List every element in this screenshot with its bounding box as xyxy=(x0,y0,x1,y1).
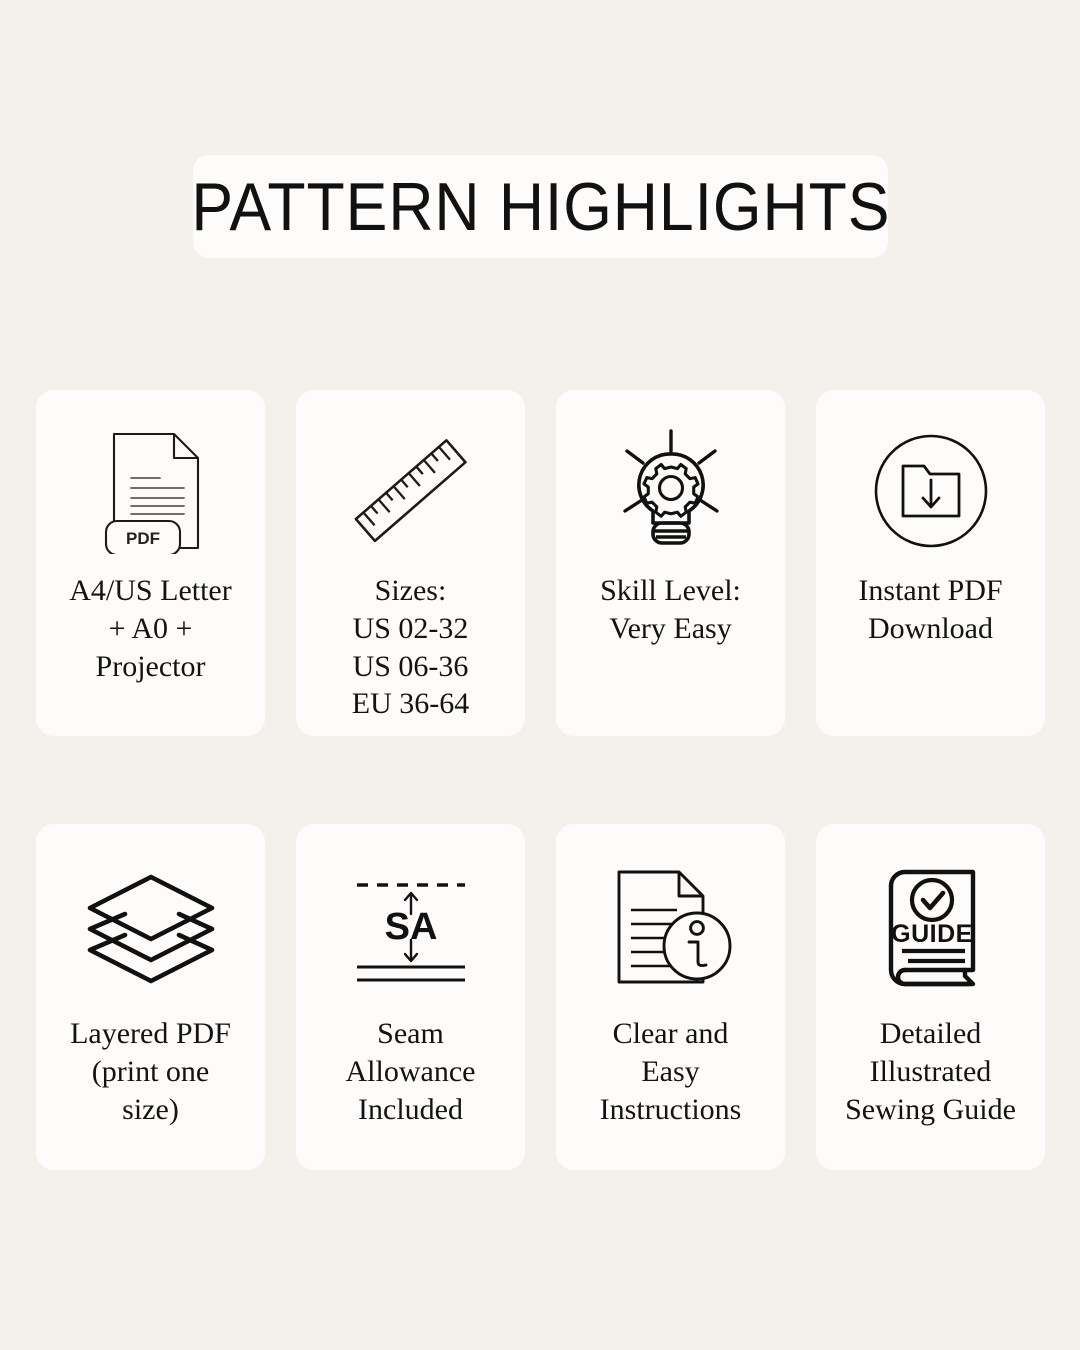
highlight-card-layered-pdf[interactable]: Layered PDF (print one size) xyxy=(36,824,265,1170)
highlight-card-sizes[interactable]: Sizes: US 02-32 US 06-36 EU 36-64 xyxy=(296,390,525,736)
highlight-card-paper-sizes[interactable]: PDF A4/US Letter + A0 + Projector xyxy=(36,390,265,736)
highlight-card-label: Skill Level: Very Easy xyxy=(556,572,785,648)
ruler-icon xyxy=(296,416,525,566)
folder-download-circle-icon xyxy=(816,416,1045,566)
highlight-card-sewing-guide[interactable]: GUIDE Detailed Illustrated Sewing Guide xyxy=(816,824,1045,1170)
highlight-card-instructions[interactable]: Clear and Easy Instructions xyxy=(556,824,785,1170)
highlight-card-label: Seam Allowance Included xyxy=(296,1015,525,1128)
highlight-card-label: Sizes: US 02-32 US 06-36 EU 36-64 xyxy=(296,572,525,723)
highlight-card-seam-allowance[interactable]: SA Seam Allowance Included xyxy=(296,824,525,1170)
lightbulb-gear-icon xyxy=(556,416,785,566)
guide-book-check-icon: GUIDE xyxy=(816,850,1045,1005)
page-title: PATTERN HIGHLIGHTS xyxy=(191,173,890,241)
pattern-highlights-page: PATTERN HIGHLIGHTS xyxy=(0,0,1080,1350)
highlight-card-label: Instant PDF Download xyxy=(816,572,1045,648)
guide-badge-text: GUIDE xyxy=(891,920,973,948)
highlight-card-label: Detailed Illustrated Sewing Guide xyxy=(816,1015,1045,1128)
page-title-banner: PATTERN HIGHLIGHTS xyxy=(193,155,888,258)
highlight-card-label: Layered PDF (print one size) xyxy=(36,1015,265,1128)
seam-allowance-label: SA xyxy=(384,906,437,948)
highlights-grid: PDF A4/US Letter + A0 + Projector xyxy=(36,390,1044,1170)
highlight-card-label: A4/US Letter + A0 + Projector xyxy=(36,572,265,685)
highlight-card-instant-download[interactable]: Instant PDF Download xyxy=(816,390,1045,736)
highlight-card-label: Clear and Easy Instructions xyxy=(556,1015,785,1128)
highlight-card-skill-level[interactable]: Skill Level: Very Easy xyxy=(556,390,785,736)
layers-stack-icon xyxy=(36,850,265,1005)
seam-allowance-icon: SA xyxy=(296,850,525,1005)
pdf-document-icon: PDF xyxy=(36,416,265,566)
document-info-icon xyxy=(556,850,785,1005)
pdf-badge-text: PDF xyxy=(126,529,160,548)
